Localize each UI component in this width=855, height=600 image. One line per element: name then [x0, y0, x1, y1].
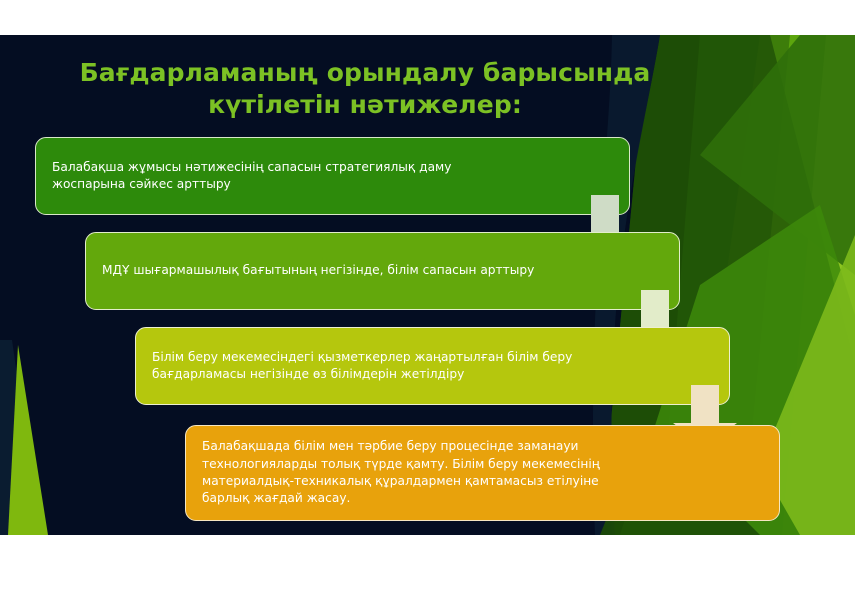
arrow-2-stem — [641, 290, 669, 328]
top-margin-band — [0, 0, 855, 35]
presentation-slide: Бағдарламаның орындалу барысында күтілет… — [0, 35, 855, 535]
step-box-2[interactable]: МДҰ шығармашылық бағытының негізінде, бі… — [85, 232, 680, 310]
step-box-4[interactable]: Балабақшада білім мен тәрбие беру процес… — [185, 425, 780, 521]
slide-title: Бағдарламаның орындалу барысында күтілет… — [55, 57, 675, 121]
step-box-1[interactable]: Балабақша жұмысы нәтижесінің сапасын стр… — [35, 137, 630, 215]
step-box-3[interactable]: Білім беру мекемесіндегі қызметкерлер жа… — [135, 327, 730, 405]
step-box-2-text: МДҰ шығармашылық бағытының негізінде, бі… — [86, 262, 679, 279]
arrow-1-stem — [591, 195, 619, 233]
step-box-3-text: Білім беру мекемесіндегі қызметкерлер жа… — [136, 349, 729, 384]
bottom-margin-band — [0, 535, 855, 600]
slide-title-line-2: күтілетін нәтижелер: — [55, 89, 675, 121]
arrow-3-stem — [691, 385, 719, 423]
step-box-4-text: Балабақшада білім мен тәрбие беру процес… — [186, 438, 779, 507]
step-box-1-text: Балабақша жұмысы нәтижесінің сапасын стр… — [36, 159, 629, 194]
slide-canvas: Бағдарламаның орындалу барысында күтілет… — [0, 0, 855, 600]
slide-title-line-1: Бағдарламаның орындалу барысында — [55, 57, 675, 89]
